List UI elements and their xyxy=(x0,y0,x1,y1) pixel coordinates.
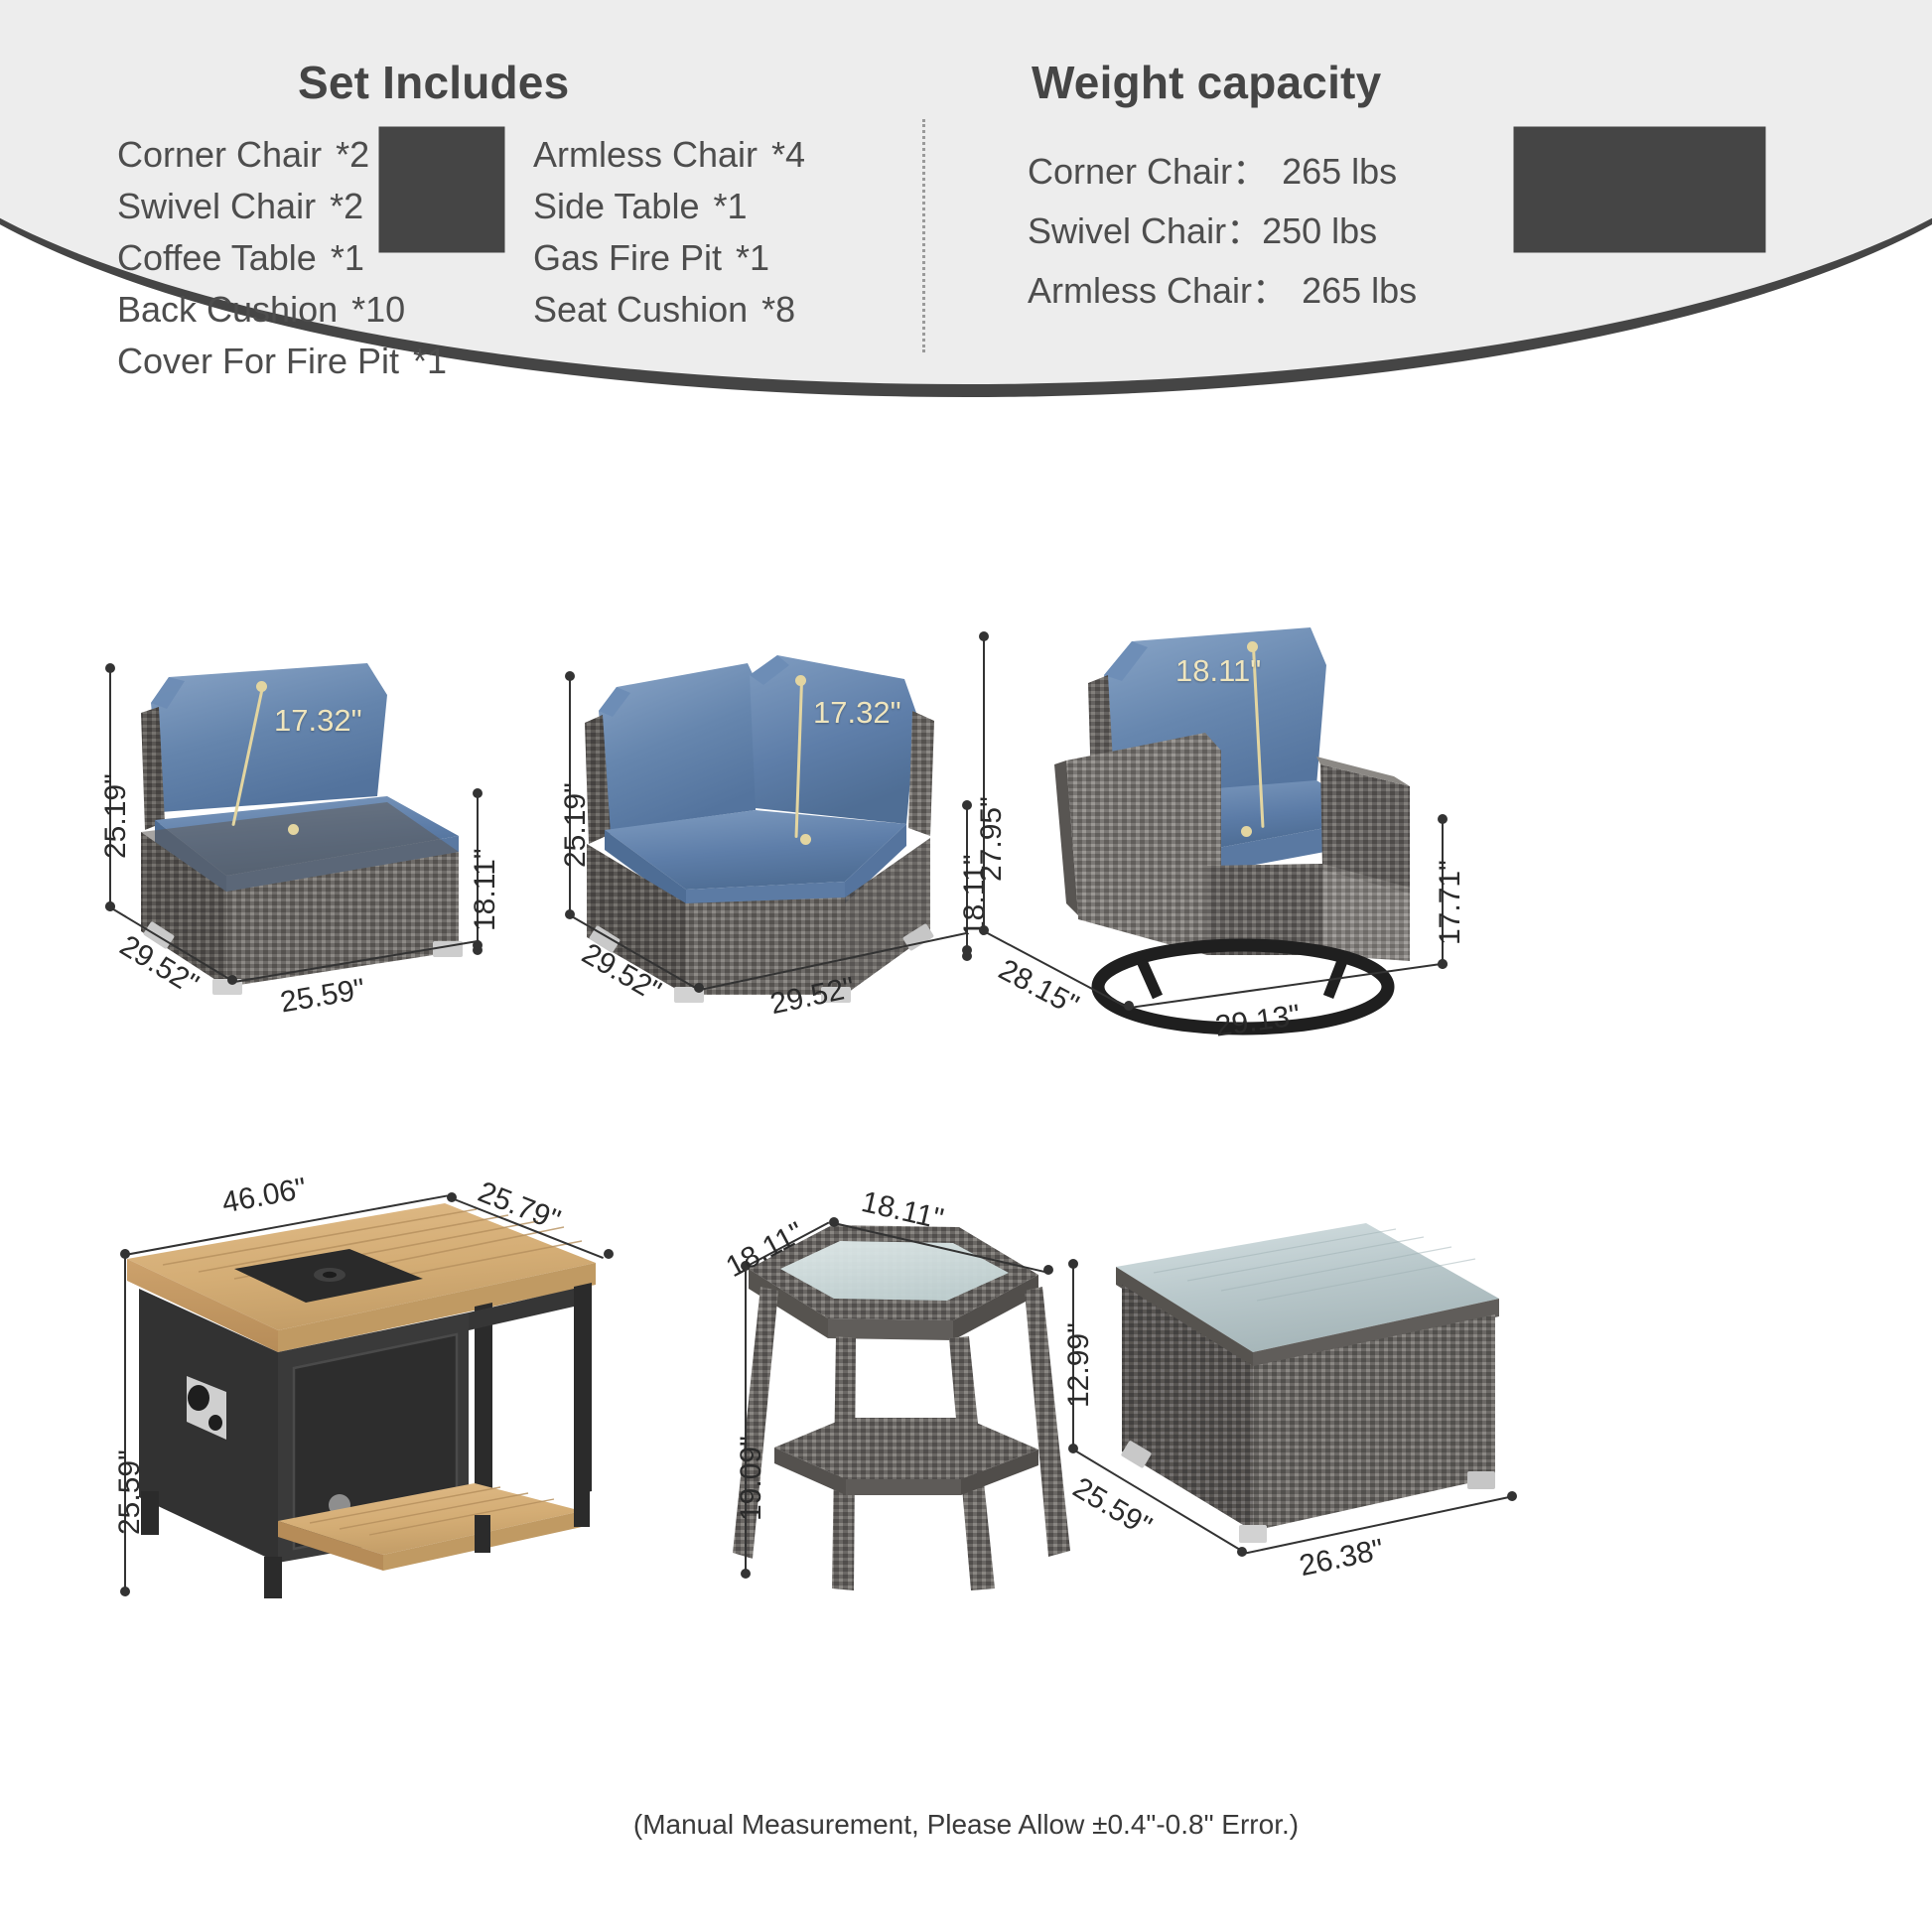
item-name: Swivel Chair xyxy=(117,186,316,226)
dim-label-height: 25.59" xyxy=(113,1449,147,1535)
dim-height-line xyxy=(983,636,985,930)
item-qty: *8 xyxy=(748,289,795,330)
dim-endpoint xyxy=(1438,959,1448,969)
product-corner-chair: 25.19" 17.32" 18.11" 29.52" 29.52" xyxy=(551,584,1008,1115)
list-item: Back Cushion*10 xyxy=(117,284,447,336)
gold-dim-endpoint xyxy=(800,834,811,845)
coffee-table-illustration xyxy=(1062,1181,1529,1608)
item-name: Corner Chair xyxy=(1028,151,1232,192)
item-qty: *2 xyxy=(316,186,363,226)
dim-label-cushion-depth: 18.11" xyxy=(1175,653,1261,689)
gold-dim-endpoint xyxy=(1241,826,1252,837)
dim-endpoint xyxy=(1507,1491,1517,1501)
item-separator: ： xyxy=(1252,270,1288,311)
dim-endpoint xyxy=(604,1249,614,1259)
gold-dim-endpoint xyxy=(288,824,299,835)
item-name: Armless Chair xyxy=(1028,270,1252,311)
product-dimension-grid: 25.19" 17.32" 18.11" 29.52" 25.59" xyxy=(0,467,1932,1857)
item-separator: ： xyxy=(1232,151,1268,192)
item-name: Seat Cushion xyxy=(533,289,748,330)
item-value: 265 lbs xyxy=(1288,270,1417,311)
item-qty: *1 xyxy=(699,186,747,226)
dim-endpoint xyxy=(473,940,483,950)
item-qty: *1 xyxy=(317,237,364,278)
item-name: Swivel Chair xyxy=(1028,210,1226,251)
item-name: Gas Fire Pit xyxy=(533,237,722,278)
product-coffee-table: 12.99" 25.59" 26.38" xyxy=(1062,1181,1529,1608)
list-item: Armless Chair*4 xyxy=(533,129,805,181)
item-name: Back Cushion xyxy=(117,289,338,330)
item-separator: ： xyxy=(1226,210,1262,251)
item-name: Cover For Fire Pit xyxy=(117,341,399,381)
product-swivel-chair: 27.95" 18.11" 17.71" 28.15" 29.13" xyxy=(993,566,1469,1117)
dim-label-depth: 18.11" xyxy=(469,849,502,932)
weight-capacity-column: Corner Chair：265 lbs Swivel Chair：250 lb… xyxy=(1028,142,1417,321)
corner-chair-illustration xyxy=(551,584,1008,1115)
item-value: 265 lbs xyxy=(1268,151,1397,192)
dim-endpoint xyxy=(1043,1265,1053,1275)
item-qty: *2 xyxy=(322,134,369,175)
dim-label-height: 27.95" xyxy=(975,796,1009,882)
item-qty: *10 xyxy=(338,289,405,330)
weight-capacity-title: Weight capacity xyxy=(1032,56,1381,109)
dim-height-line xyxy=(745,1266,747,1574)
item-name: Coffee Table xyxy=(117,237,317,278)
item-qty: *1 xyxy=(722,237,769,278)
list-item: Swivel Chair：250 lbs xyxy=(1028,202,1417,261)
dim-label-cushion-depth: 17.32" xyxy=(813,695,901,731)
product-side-table: 18.11" 18.11" 19.09" xyxy=(705,1162,1122,1628)
list-item: Gas Fire Pit*1 xyxy=(533,232,805,284)
product-gas-fire-pit: 46.06" 25.79" 25.59" xyxy=(79,1142,635,1658)
product-armless-chair: 25.19" 17.32" 18.11" 29.52" 25.59" xyxy=(89,586,516,1112)
dim-label-height: 19.09" xyxy=(735,1436,768,1521)
item-name: Armless Chair xyxy=(533,134,758,175)
dim-endpoint xyxy=(473,788,483,798)
dim-endpoint xyxy=(962,945,972,955)
dim-endpoint xyxy=(962,800,972,810)
list-item: Cover For Fire Pit*1 xyxy=(117,336,447,387)
dim-endpoint xyxy=(741,1569,751,1579)
dim-endpoint xyxy=(120,1587,130,1596)
list-item: Corner Chair：265 lbs xyxy=(1028,142,1417,202)
set-includes-title: Set Includes xyxy=(298,56,569,109)
dim-label-height: 25.19" xyxy=(559,782,593,868)
dim-label-cushion-depth: 17.32" xyxy=(274,703,362,739)
measurement-disclaimer: (Manual Measurement, Please Allow ±0.4"-… xyxy=(0,1809,1932,1841)
list-item: Corner Chair*2 xyxy=(117,129,447,181)
header-content: Set Includes Weight capacity Corner Chai… xyxy=(0,0,1932,417)
dim-endpoint xyxy=(1438,814,1448,824)
item-value: 250 lbs xyxy=(1262,210,1377,251)
list-item: Armless Chair：265 lbs xyxy=(1028,261,1417,321)
dim-label-height: 25.19" xyxy=(99,773,133,859)
item-qty: *4 xyxy=(758,134,805,175)
item-name: Corner Chair xyxy=(117,134,322,175)
list-item: Seat Cushion*8 xyxy=(533,284,805,336)
spec-header-band: Set Includes Weight capacity Corner Chai… xyxy=(0,0,1932,477)
item-qty: *1 xyxy=(399,341,447,381)
set-includes-right-column: Armless Chair*4 Side Table*1 Gas Fire Pi… xyxy=(533,129,805,336)
column-divider xyxy=(922,119,925,352)
list-item: Side Table*1 xyxy=(533,181,805,232)
item-name: Side Table xyxy=(533,186,699,226)
armless-chair-illustration xyxy=(89,586,516,1112)
dim-label-seat-height: 17.71" xyxy=(1434,860,1467,945)
set-includes-left-column: Corner Chair*2 Swivel Chair*2 Coffee Tab… xyxy=(117,129,447,387)
dim-height-line xyxy=(124,1254,126,1591)
list-item: Coffee Table*1 xyxy=(117,232,447,284)
list-item: Swivel Chair*2 xyxy=(117,181,447,232)
dim-label-height: 12.99" xyxy=(1062,1322,1096,1408)
